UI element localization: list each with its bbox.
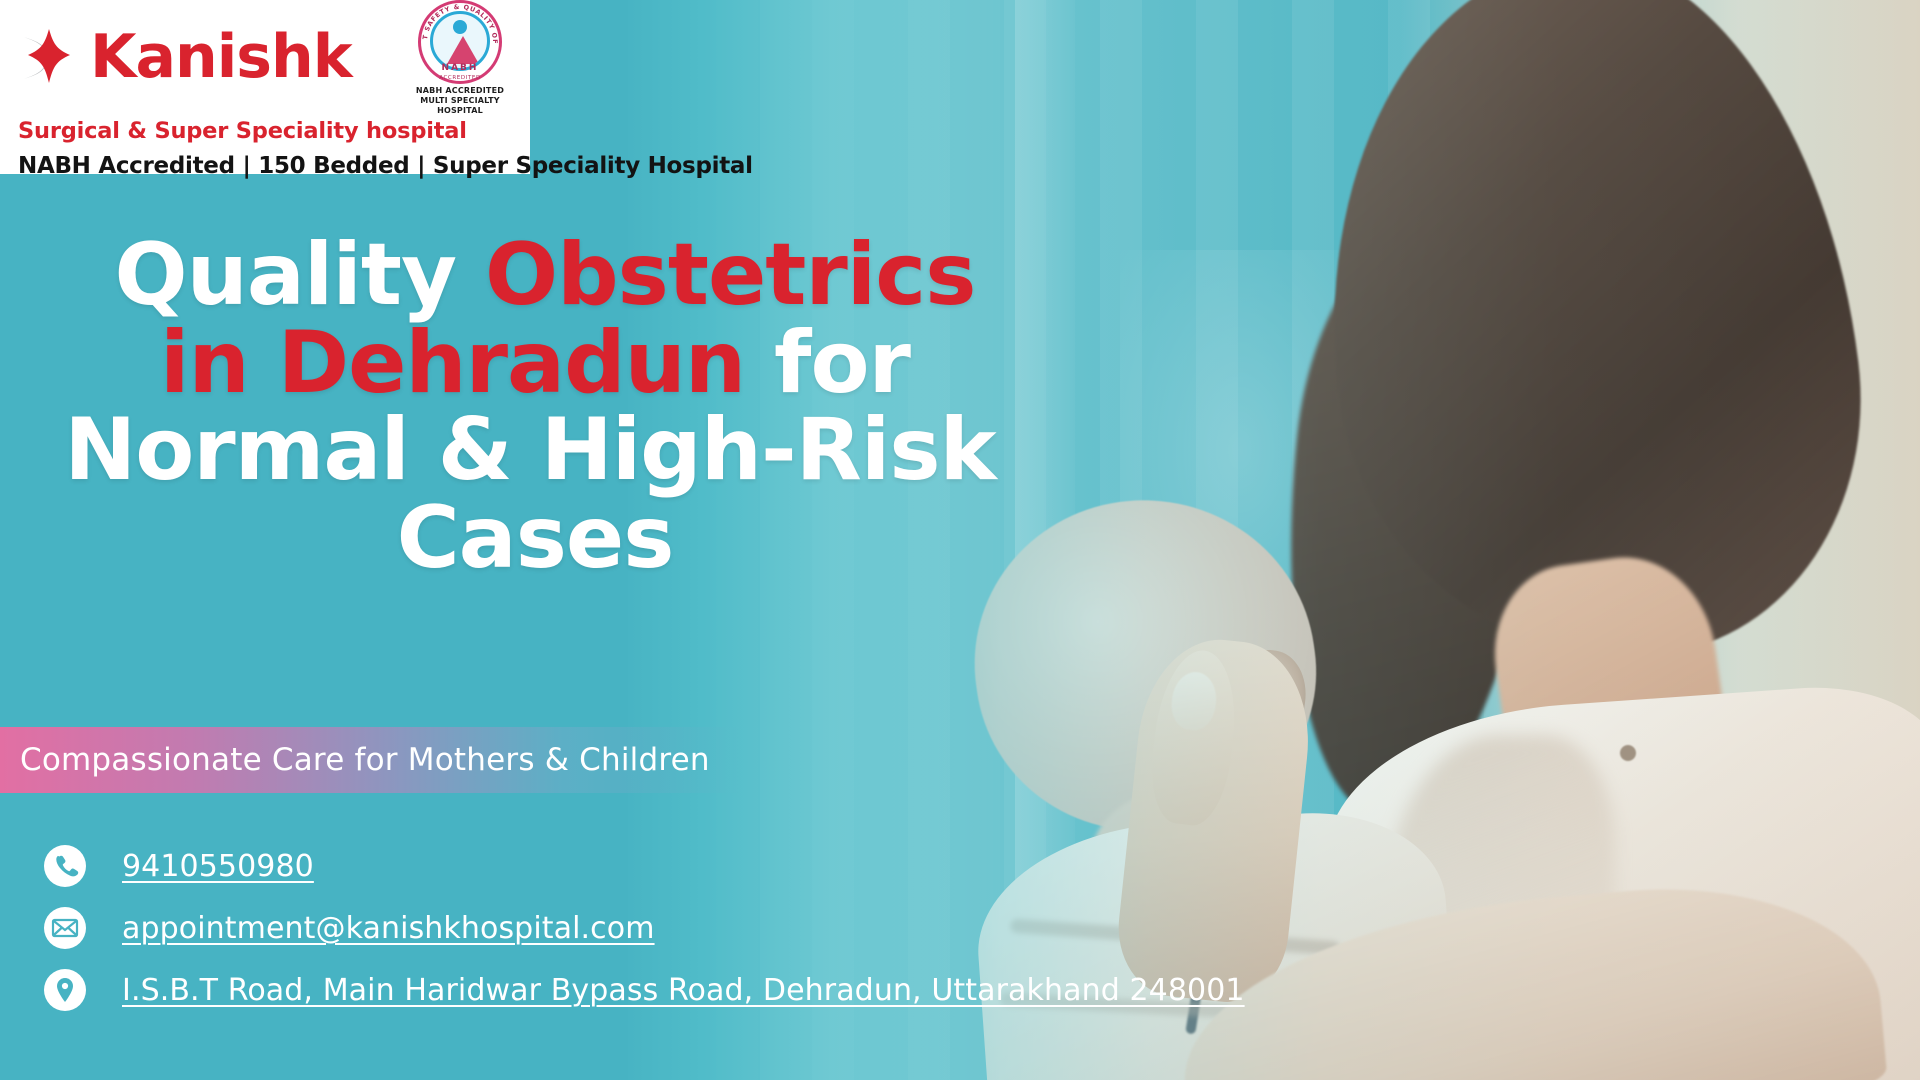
contact-row-address[interactable]: I.S.B.T Road, Main Haridwar Bypass Road,…: [44, 969, 1245, 1011]
location-pin-icon: [44, 969, 86, 1011]
headline-line-3: Normal & High-Risk: [0, 407, 1060, 495]
contact-row-phone[interactable]: 9410550980: [44, 845, 1245, 887]
contact-phone-label[interactable]: 9410550980: [122, 849, 314, 884]
headline-line-4: Cases: [0, 495, 1060, 583]
page-title: Quality Obstetrics in Dehradun for Norma…: [0, 232, 1060, 583]
hospital-logo-card: Kanishk PATIENT SAFETY & QUALITY OF CARE: [0, 0, 530, 174]
headline-line-2: in Dehradun for: [0, 320, 1060, 408]
hero-banner: Kanishk PATIENT SAFETY & QUALITY OF CARE: [0, 0, 1920, 1080]
brand-wordmark: Kanishk: [90, 29, 394, 86]
nabh-caption-line-2: MULTI SPECIALTY HOSPITAL: [404, 96, 516, 116]
brand-subtitle: Surgical & Super Speciality hospital: [18, 118, 516, 144]
headline-line-1: Quality Obstetrics: [0, 232, 1060, 320]
subtitle-text: Compassionate Care for Mothers & Childre…: [0, 742, 710, 778]
envelope-icon: [44, 907, 86, 949]
headline-line-1-white: Quality: [115, 225, 485, 325]
nabh-caption-line-1: NABH ACCREDITED: [404, 86, 516, 96]
headline-line-2-accent: in Dehradun: [160, 313, 745, 413]
contact-row-email[interactable]: appointment@kanishkhospital.com: [44, 907, 1245, 949]
four-point-star-icon: [18, 27, 80, 89]
logo-top-row: Kanishk PATIENT SAFETY & QUALITY OF CARE: [18, 0, 516, 116]
nabh-dot: [453, 20, 467, 34]
brand-tagline: NABH Accredited | 150 Bedded | Super Spe…: [18, 153, 516, 179]
contact-list: 9410550980 appointment@kanishkhospital.c…: [44, 845, 1245, 1011]
nabh-seal-word: NABH: [418, 63, 502, 73]
nabh-seal-status: ACCREDITED: [418, 75, 502, 81]
contact-email-label[interactable]: appointment@kanishkhospital.com: [122, 911, 655, 946]
headline-line-2-white: for: [745, 313, 910, 413]
phone-icon: [44, 845, 86, 887]
headline-line-1-accent: Obstetrics: [485, 225, 975, 325]
subtitle-band: Compassionate Care for Mothers & Childre…: [0, 727, 740, 793]
nabh-caption: NABH ACCREDITED MULTI SPECIALTY HOSPITAL: [404, 86, 516, 116]
nabh-triangle: [447, 36, 479, 64]
brand-name: Kanishk: [90, 29, 394, 86]
contact-address-label[interactable]: I.S.B.T Road, Main Haridwar Bypass Road,…: [122, 973, 1245, 1008]
nabh-seal-icon: PATIENT SAFETY & QUALITY OF CARE NABH AC…: [418, 0, 502, 84]
nabh-accreditation-block: PATIENT SAFETY & QUALITY OF CARE NABH AC…: [404, 0, 516, 116]
nabh-inner-disc: [430, 11, 490, 71]
